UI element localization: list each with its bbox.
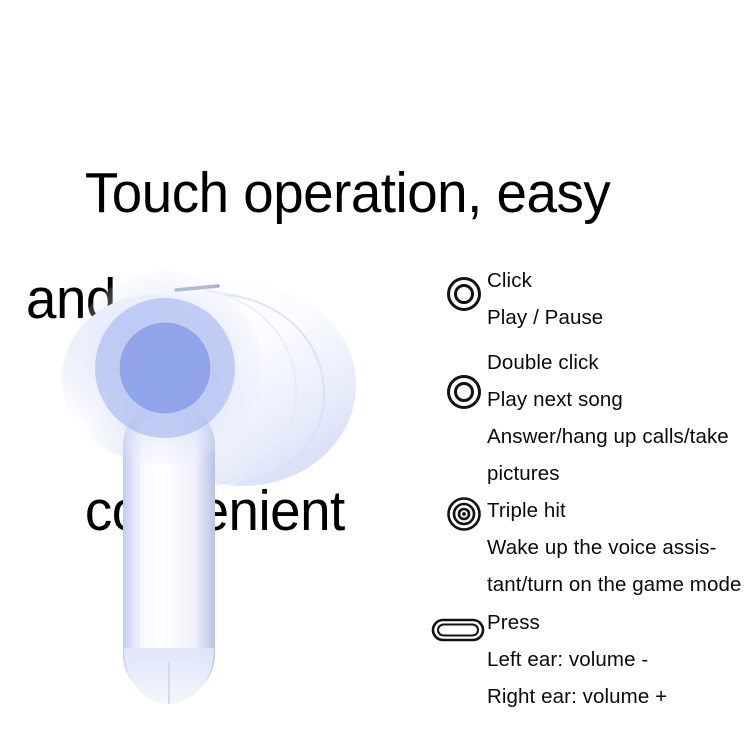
gesture-line: Play next song: [487, 381, 750, 418]
gesture-instruction-list: Click Play / Pause Double click Play nex…: [430, 262, 750, 732]
earbud-product-image: [28, 250, 388, 720]
gesture-line: tant/turn on the game mode: [487, 566, 750, 603]
gesture-line: Click: [487, 262, 750, 299]
gesture-double-click-lines: Double click Play next song Answer/hang …: [487, 344, 750, 492]
gesture-line: Play / Pause: [487, 299, 750, 336]
infographic-page: Touch operation, easy and convenient: [0, 0, 750, 753]
gesture-line: Left ear: volume -: [487, 641, 750, 678]
touch-zone-indicator: [68, 271, 262, 465]
gesture-line: pictures: [487, 455, 750, 492]
earbud-stem-tip: [124, 648, 214, 704]
double-tap-ring-icon: [444, 372, 484, 412]
gesture-line: Answer/hang up calls/take: [487, 418, 750, 455]
gesture-line: Wake up the voice assis-: [487, 529, 750, 566]
gesture-line: Double click: [487, 344, 750, 381]
gesture-line: Right ear: volume +: [487, 678, 750, 715]
gesture-click-lines: Click Play / Pause: [487, 262, 750, 336]
gesture-line: Triple hit: [487, 492, 750, 529]
single-tap-ring-icon: [444, 274, 484, 314]
triple-tap-bullseye-icon: [444, 494, 484, 534]
press-capsule-icon: [430, 608, 486, 648]
gesture-press-lines: Press Left ear: volume - Right ear: volu…: [487, 604, 750, 715]
gesture-line: Press: [487, 604, 750, 641]
gesture-triple-hit-lines: Triple hit Wake up the voice assis- tant…: [487, 492, 750, 603]
